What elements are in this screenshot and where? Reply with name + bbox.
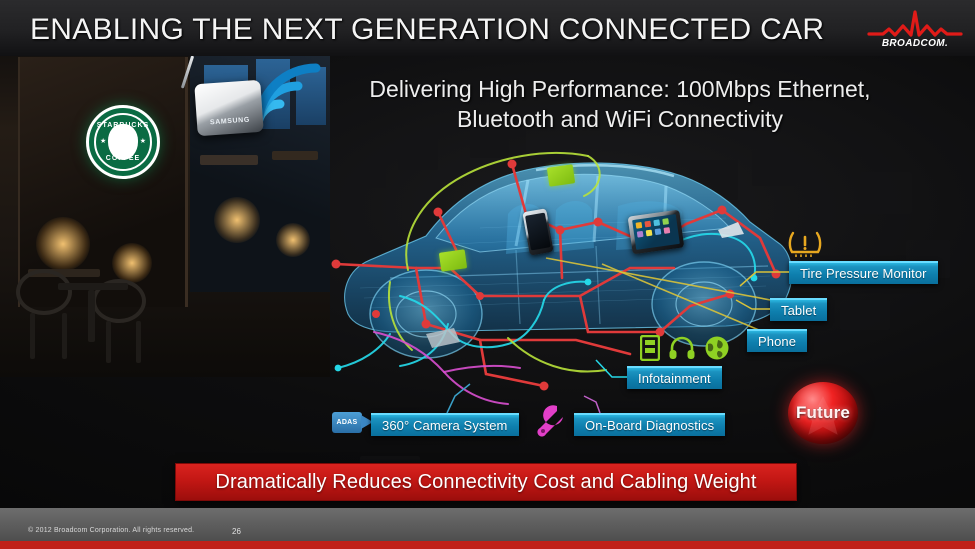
starbucks-wordmark-bottom: COFFEE xyxy=(96,155,150,162)
cafe-chair-leg xyxy=(136,321,141,363)
future-badge-star-icon xyxy=(796,390,850,438)
green-module-b xyxy=(439,249,467,271)
callout-label-text: 360° Camera System xyxy=(382,418,508,433)
future-badge: Future xyxy=(788,382,858,444)
footer-accent-bar xyxy=(0,541,975,549)
connected-car-illustration xyxy=(330,118,800,418)
tire-pressure-warning-icon xyxy=(788,229,822,257)
cafe-chair-leg xyxy=(106,321,111,363)
cafe-chair-leg xyxy=(62,313,67,359)
key-message-banner: Dramatically Reduces Connectivity Cost a… xyxy=(175,463,797,501)
headphones-icon xyxy=(669,336,695,360)
starbucks-logo: STARBUCKS COFFEE ★ ★ xyxy=(86,105,160,179)
adas-badge-label: ADAS xyxy=(332,412,362,433)
copyright-text: © 2012 Broadcom Corporation. All rights … xyxy=(28,527,194,534)
slide-canvas: STARBUCKS COFFEE ★ ★ SAMSUNG ENABLI xyxy=(0,0,975,549)
car-xray-svg xyxy=(330,118,800,418)
broadcom-waveform-icon xyxy=(867,8,963,38)
green-module-a xyxy=(547,164,575,186)
broadcom-wordmark: BROADCOM. xyxy=(867,38,963,49)
callout-camera-system[interactable]: 360° Camera System xyxy=(371,413,519,436)
router-brand-label: SAMSUNG xyxy=(197,116,263,128)
globe-icon xyxy=(704,335,730,361)
callout-tire-pressure-monitor[interactable]: Tire Pressure Monitor xyxy=(789,261,938,284)
callout-label-text: Tire Pressure Monitor xyxy=(800,266,927,281)
callout-on-board-diagnostics[interactable]: On-Board Diagnostics xyxy=(574,413,725,436)
callout-infotainment[interactable]: Infotainment xyxy=(627,366,722,389)
infotainment-media-icons xyxy=(640,333,732,363)
callout-tablet[interactable]: Tablet xyxy=(770,298,827,321)
in-car-tablet xyxy=(628,210,685,255)
film-strip-icon xyxy=(640,335,660,361)
adas-camera-icon: ADAS xyxy=(332,412,374,433)
page-title: ENABLING THE NEXT GENERATION CONNECTED C… xyxy=(30,13,824,47)
key-message-text: Dramatically Reduces Connectivity Cost a… xyxy=(215,471,756,494)
subtitle-line-1: Delivering High Performance: 100Mbps Eth… xyxy=(300,74,940,104)
cafe-chair xyxy=(16,269,72,315)
slide-number: 26 xyxy=(232,527,241,536)
broadcom-logo: BROADCOM. xyxy=(867,8,963,52)
cafe-table xyxy=(58,283,128,290)
cafe-table-leg xyxy=(88,290,95,342)
cafe-chair-leg xyxy=(30,313,35,359)
samsung-router: SAMSUNG xyxy=(194,80,263,136)
callout-label-text: Phone xyxy=(758,334,796,349)
wrench-icon xyxy=(533,403,567,439)
callout-phone[interactable]: Phone xyxy=(747,329,807,352)
callout-label-text: Tablet xyxy=(781,303,816,318)
footer-bar xyxy=(0,508,975,541)
callout-label-text: Infotainment xyxy=(638,371,711,386)
callout-label-text: On-Board Diagnostics xyxy=(585,418,714,433)
